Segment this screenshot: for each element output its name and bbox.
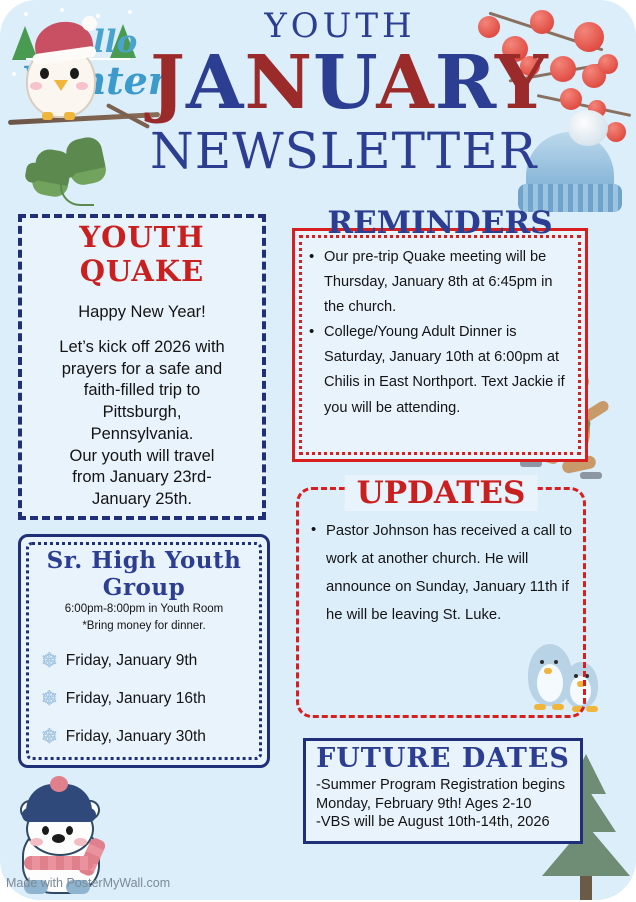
snowflake-icon: ❄ [41,689,58,709]
updates-list: Pastor Johnson has received a call to wo… [299,517,583,629]
youth-quake-line: Pittsburgh, [32,402,252,424]
sr-high-youth-group-card: Sr. High Youth Group 6:00pm-8:00pm in Yo… [18,534,270,768]
sr-high-date-row: ❄ Friday, January 16th [21,680,267,718]
sr-high-date-row: ❄ Friday, January 30th [21,718,267,756]
youth-quake-greeting: Happy New Year! [32,302,252,324]
title-january: JANUARY [150,48,530,118]
winter-text: Winter [22,58,168,103]
reminder-item: College/Young Adult Dinner is Saturday, … [309,320,575,420]
future-dates-body: -Summer Program Registration begins Mond… [306,774,580,832]
reminders-title: REMINDERS [295,205,585,241]
pine-tree-icon [12,26,38,60]
youth-quake-line: faith-filled trip to [32,380,252,402]
snowflake-icon: ❄ [41,651,58,671]
future-date-line: -Summer Program Registration begins [316,776,572,795]
snowflake-icon: ❄ [41,727,58,747]
youth-quake-line: Pennsylvania. [32,424,252,446]
updates-title: UPDATES [345,475,538,511]
sr-high-date-row: ❄ Friday, January 9th [21,642,267,680]
spacer [32,324,252,337]
snow-dot [24,12,28,16]
sr-high-title: Sr. High Youth Group [21,547,267,601]
newsletter-poster: ❄ ❄ ❄ ❄ ❄ ❄ ❄ ❄ ❄ ❄ ❄ ❄ ❄ ❄ ❄ ❄ ❄ ❄ ❄ ❄ … [0,0,636,900]
youth-quake-line: Let’s kick off 2026 with [32,337,252,359]
youth-quake-line: Our youth will travel [32,446,252,468]
youth-quake-body: Happy New Year! Let’s kick off 2026 with… [22,302,262,511]
reminders-list: Our pre-trip Quake meeting will be Thurs… [295,245,585,421]
youth-quake-line: from January 23rd- [32,467,252,489]
youth-quake-card: YOUTH QUAKE Happy New Year! Let’s kick o… [18,214,266,520]
youth-quake-line: January 25th. [32,489,252,511]
watermark: Made with PosterMyWall.com [6,876,170,890]
snow-dot [128,10,132,14]
updates-card: UPDATES Pastor Johnson has received a ca… [296,487,586,718]
sr-high-note: *Bring money for dinner. [21,618,267,635]
snow-dot [60,8,64,12]
reminders-card: REMINDERS Our pre-trip Quake meeting wil… [292,228,588,462]
future-dates-title: FUTURE DATES [306,743,580,774]
future-date-line: -VBS will be August 10th-14th, 2026 [316,813,572,832]
hello-text: Hello [44,24,137,60]
update-item: Pastor Johnson has received a call to wo… [311,517,573,629]
youth-quake-title: YOUTH QUAKE [22,220,262,288]
sr-high-date: Friday, January 30th [66,728,206,746]
future-dates-card: FUTURE DATES -Summer Program Registratio… [303,738,583,844]
future-date-line: Monday, February 9th! Ages 2-10 [316,795,572,814]
snow-dot [12,72,16,76]
snow-dot [96,14,100,18]
reminder-item: Our pre-trip Quake meeting will be Thurs… [309,245,575,320]
title-newsletter: NEWSLETTER [150,122,530,180]
sr-high-date: Friday, January 16th [66,690,206,708]
sr-high-time: 6:00pm-8:00pm in Youth Room [21,601,267,618]
hello-winter-badge: Hello Winter [0,0,152,112]
newsletter-header: YOUTH JANUARY NEWSLETTER [150,0,530,192]
sr-high-dates-list: ❄ Friday, January 9th ❄ Friday, January … [21,642,267,756]
youth-quake-line: prayers for a safe and [32,359,252,381]
sr-high-date: Friday, January 9th [66,652,198,670]
